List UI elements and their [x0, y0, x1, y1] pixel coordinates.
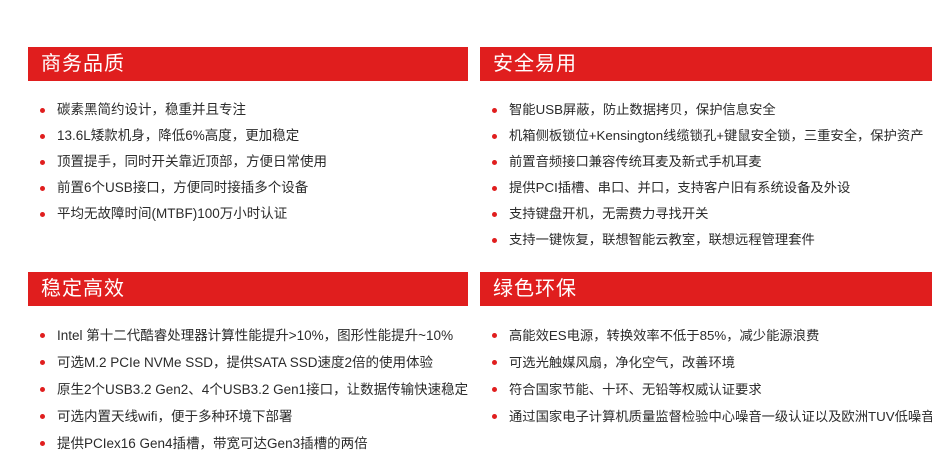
- panel-title: 商务品质: [41, 54, 125, 74]
- list-item: 符合国家节能、十环、无铅等权威认证要求: [492, 376, 932, 403]
- list-item-text: 原生2个USB3.2 Gen2、4个USB3.2 Gen1接口，让数据传输快速稳…: [57, 382, 468, 397]
- list-item: 提供PCIex16 Gen4插槽，带宽可达Gen3插槽的两倍: [40, 430, 468, 457]
- list-item-text: 顶置提手，同时开关靠近顶部，方便日常使用: [57, 154, 327, 169]
- panel-security-ease: 安全易用 智能USB屏蔽，防止数据拷贝，保护信息安全 机箱侧板锁位+Kensin…: [480, 47, 932, 272]
- bullet-dot-icon: [40, 387, 45, 392]
- list-item-text: 机箱侧板锁位+Kensington线缆锁孔+键鼠安全锁，三重安全，保护资产: [509, 128, 924, 143]
- list-item: 原生2个USB3.2 Gen2、4个USB3.2 Gen1接口，让数据传输快速稳…: [40, 376, 468, 403]
- bullet-dot-icon: [492, 238, 497, 243]
- panel-title: 安全易用: [493, 54, 577, 74]
- list-item-text: 符合国家节能、十环、无铅等权威认证要求: [509, 382, 762, 397]
- bullet-dot-icon: [40, 414, 45, 419]
- bullet-dot-icon: [40, 160, 45, 165]
- list-item-text: 可选M.2 PCIe NVMe SSD，提供SATA SSD速度2倍的使用体验: [57, 355, 433, 370]
- list-item-text: 前置6个USB接口，方便同时接插多个设备: [57, 180, 308, 195]
- bullet-dot-icon: [40, 360, 45, 365]
- bullet-dot-icon: [492, 186, 497, 191]
- feature-list-security-ease: 智能USB屏蔽，防止数据拷贝，保护信息安全 机箱侧板锁位+Kensington线…: [480, 97, 932, 253]
- list-item: 平均无故障时间(MTBF)100万小时认证: [40, 201, 468, 227]
- list-item: 通过国家电子计算机质量监督检验中心噪音一级认证以及欧洲TUV低噪音认证: [492, 403, 932, 430]
- list-item: 前置音频接口兼容传统耳麦及新式手机耳麦: [492, 149, 932, 175]
- bullet-dot-icon: [492, 108, 497, 113]
- list-item-text: 可选光触媒风扇，净化空气，改善环境: [509, 355, 735, 370]
- bullet-dot-icon: [492, 333, 497, 338]
- list-item: 可选内置天线wifi，便于多种环境下部署: [40, 403, 468, 430]
- list-item-text: 提供PCI插槽、串口、并口，支持客户旧有系统设备及外设: [509, 180, 850, 195]
- list-item: 智能USB屏蔽，防止数据拷贝，保护信息安全: [492, 97, 932, 123]
- panel-title: 稳定高效: [41, 279, 125, 299]
- list-item-text: 通过国家电子计算机质量监督检验中心噪音一级认证以及欧洲TUV低噪音认证: [509, 409, 932, 424]
- feature-panels-board: 商务品质 碳素黑简约设计，稳重并且专注 13.6L矮款机身，降低6%高度，更加稳…: [0, 0, 932, 459]
- list-item: 前置6个USB接口，方便同时接插多个设备: [40, 175, 468, 201]
- list-item-text: 支持键盘开机，无需费力寻找开关: [509, 206, 708, 221]
- panel-header-stable-efficient: 稳定高效: [28, 272, 468, 306]
- list-item-text: 可选内置天线wifi，便于多种环境下部署: [57, 409, 293, 424]
- list-item-text: 支持一键恢复，联想智能云教室，联想远程管理套件: [509, 232, 815, 247]
- panel-header-business-quality: 商务品质: [28, 47, 468, 81]
- list-item-text: 碳素黑简约设计，稳重并且专注: [57, 102, 246, 117]
- bullet-dot-icon: [492, 360, 497, 365]
- bullet-dot-icon: [40, 108, 45, 113]
- panel-stable-efficient: 稳定高效 Intel 第十二代酷睿处理器计算性能提升>10%，图形性能提升~10…: [28, 272, 468, 459]
- list-item: 13.6L矮款机身，降低6%高度，更加稳定: [40, 123, 468, 149]
- list-item: 顶置提手，同时开关靠近顶部，方便日常使用: [40, 149, 468, 175]
- panel-green-environment: 绿色环保 高能效ES电源，转换效率不低于85%，减少能源浪费 可选光触媒风扇，净…: [480, 272, 932, 459]
- list-item: 机箱侧板锁位+Kensington线缆锁孔+键鼠安全锁，三重安全，保护资产: [492, 123, 932, 149]
- bullet-dot-icon: [40, 333, 45, 338]
- list-item-text: 智能USB屏蔽，防止数据拷贝，保护信息安全: [509, 102, 776, 117]
- bullet-dot-icon: [40, 212, 45, 217]
- bullet-dot-icon: [492, 212, 497, 217]
- list-item: 提供PCI插槽、串口、并口，支持客户旧有系统设备及外设: [492, 175, 932, 201]
- panel-header-green-environment: 绿色环保: [480, 272, 932, 306]
- bullet-dot-icon: [492, 134, 497, 139]
- list-item-text: 平均无故障时间(MTBF)100万小时认证: [57, 206, 287, 221]
- list-item-text: 提供PCIex16 Gen4插槽，带宽可达Gen3插槽的两倍: [57, 436, 368, 451]
- panel-header-security-ease: 安全易用: [480, 47, 932, 81]
- list-item: 可选光触媒风扇，净化空气，改善环境: [492, 349, 932, 376]
- list-item: 高能效ES电源，转换效率不低于85%，减少能源浪费: [492, 322, 932, 349]
- bullet-dot-icon: [40, 186, 45, 191]
- panel-business-quality: 商务品质 碳素黑简约设计，稳重并且专注 13.6L矮款机身，降低6%高度，更加稳…: [28, 47, 468, 272]
- list-item: 碳素黑简约设计，稳重并且专注: [40, 97, 468, 123]
- bullet-dot-icon: [40, 134, 45, 139]
- panel-title: 绿色环保: [493, 279, 577, 299]
- feature-list-stable-efficient: Intel 第十二代酷睿处理器计算性能提升>10%，图形性能提升~10% 可选M…: [28, 322, 468, 457]
- list-item-text: Intel 第十二代酷睿处理器计算性能提升>10%，图形性能提升~10%: [57, 328, 453, 343]
- feature-list-business-quality: 碳素黑简约设计，稳重并且专注 13.6L矮款机身，降低6%高度，更加稳定 顶置提…: [28, 97, 468, 227]
- list-item: 支持一键恢复，联想智能云教室，联想远程管理套件: [492, 227, 932, 253]
- feature-list-green-environment: 高能效ES电源，转换效率不低于85%，减少能源浪费 可选光触媒风扇，净化空气，改…: [480, 322, 932, 430]
- bullet-dot-icon: [492, 414, 497, 419]
- list-item-text: 13.6L矮款机身，降低6%高度，更加稳定: [57, 128, 299, 143]
- list-item: Intel 第十二代酷睿处理器计算性能提升>10%，图形性能提升~10%: [40, 322, 468, 349]
- bullet-dot-icon: [492, 160, 497, 165]
- list-item: 可选M.2 PCIe NVMe SSD，提供SATA SSD速度2倍的使用体验: [40, 349, 468, 376]
- list-item: 支持键盘开机，无需费力寻找开关: [492, 201, 932, 227]
- bullet-dot-icon: [492, 387, 497, 392]
- list-item-text: 前置音频接口兼容传统耳麦及新式手机耳麦: [509, 154, 762, 169]
- bullet-dot-icon: [40, 441, 45, 446]
- list-item-text: 高能效ES电源，转换效率不低于85%，减少能源浪费: [509, 328, 819, 343]
